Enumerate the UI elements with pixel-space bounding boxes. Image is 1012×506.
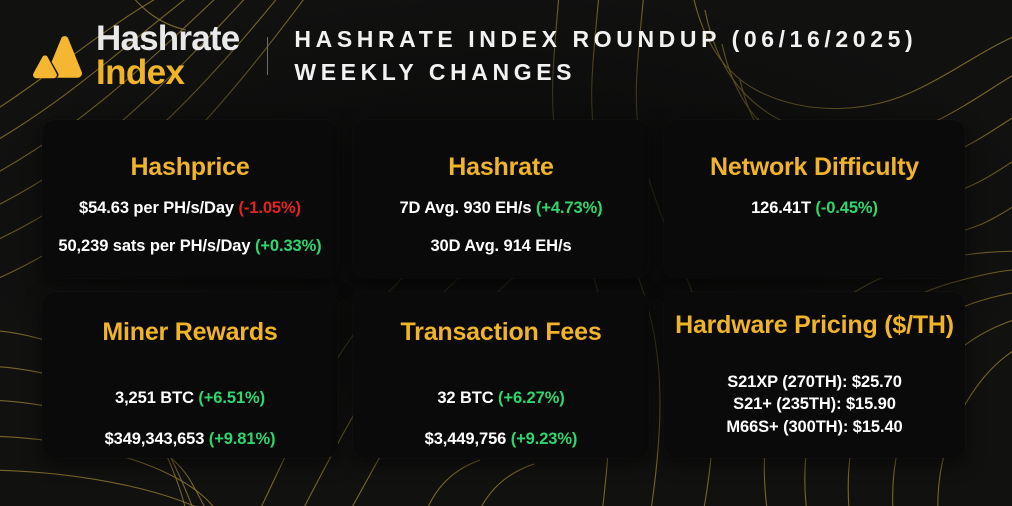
hashrate-index-logo-icon: [28, 29, 84, 85]
metric-value: $3,449,756: [425, 430, 507, 448]
hardware-price-line: S21+ (235TH): $15.90: [733, 393, 896, 416]
metric-row: 126.41T (-0.45%): [751, 199, 878, 218]
card-title: Transaction Fees: [400, 318, 601, 348]
page-title: HASHRATE INDEX ROUNDUP (06/16/2025) WEEK…: [294, 26, 917, 86]
metric-change-positive: (+4.73%): [536, 199, 603, 217]
card-metrics: 126.41T (-0.45%): [674, 199, 955, 218]
header-divider: [267, 37, 268, 75]
card-hashprice: Hashprice$54.63 per PH/s/Day (-1.05%)50,…: [42, 120, 338, 278]
hardware-price-line: M66S+ (300TH): $15.40: [726, 416, 902, 439]
wordmark: Hashrate Index: [96, 22, 239, 90]
metrics-card-grid: Hashprice$54.63 per PH/s/Day (-1.05%)50,…: [42, 120, 965, 472]
metric-change-positive: (-0.45%): [815, 199, 877, 217]
metric-value: 7D Avg. 930 EH/s: [399, 199, 531, 217]
hardware-price-line: S21XP (270TH): $25.70: [727, 371, 902, 394]
card-metrics: 7D Avg. 930 EH/s (+4.73%)30D Avg. 914 EH…: [363, 199, 639, 256]
card-title: Network Difficulty: [710, 153, 919, 183]
wordmark-line-2: Index: [96, 56, 239, 90]
metric-value: $54.63 per PH/s/Day: [79, 199, 234, 217]
card-difficulty: Network Difficulty126.41T (-0.45%): [664, 120, 965, 278]
card-title: Hashrate: [448, 153, 553, 183]
metric-change-positive: (+0.33%): [255, 237, 322, 255]
roundup-graphic: Hashrate Index HASHRATE INDEX ROUNDUP (0…: [0, 0, 1012, 506]
card-title: Miner Rewards: [102, 318, 277, 348]
metric-row: 30D Avg. 914 EH/s: [430, 237, 571, 256]
page-title-line-1: HASHRATE INDEX ROUNDUP (06/16/2025): [294, 26, 917, 53]
metric-row: 32 BTC (+6.27%): [437, 389, 564, 408]
metric-change-positive: (+6.51%): [198, 389, 265, 407]
page-title-line-2: WEEKLY CHANGES: [294, 59, 917, 86]
metric-value: $349,343,653: [105, 430, 205, 448]
card-title: Hashprice: [130, 153, 249, 183]
card-fees: Transaction Fees32 BTC (+6.27%)$3,449,75…: [353, 292, 649, 458]
header: Hashrate Index HASHRATE INDEX ROUNDUP (0…: [0, 0, 1012, 112]
metric-change-negative: (-1.05%): [238, 199, 300, 217]
card-title: Hardware Pricing ($/TH): [675, 311, 954, 341]
metric-change-positive: (+9.81%): [209, 430, 276, 448]
metric-row: $349,343,653 (+9.81%): [105, 430, 276, 449]
metric-row: 7D Avg. 930 EH/s (+4.73%): [399, 199, 602, 218]
card-metrics: $54.63 per PH/s/Day (-1.05%)50,239 sats …: [52, 199, 328, 256]
card-rewards: Miner Rewards3,251 BTC (+6.51%)$349,343,…: [42, 292, 338, 458]
metric-row: $54.63 per PH/s/Day (-1.05%): [79, 199, 301, 218]
metric-value: 3,251 BTC: [115, 389, 194, 407]
metric-change-positive: (+9.23%): [511, 430, 578, 448]
card-hashrate: Hashrate7D Avg. 930 EH/s (+4.73%)30D Avg…: [353, 120, 649, 278]
metric-change-positive: (+6.27%): [498, 389, 565, 407]
metric-row: 50,239 sats per PH/s/Day (+0.33%): [58, 237, 321, 256]
wordmark-line-1: Hashrate: [96, 22, 239, 56]
metric-row: $3,449,756 (+9.23%): [425, 430, 578, 449]
card-metrics: 3,251 BTC (+6.51%)$349,343,653 (+9.81%): [52, 389, 328, 449]
card-metrics: S21XP (270TH): $25.70S21+ (235TH): $15.9…: [674, 371, 955, 439]
metric-value: 32 BTC: [437, 389, 493, 407]
metric-value: 126.41T: [751, 199, 811, 217]
card-metrics: 32 BTC (+6.27%)$3,449,756 (+9.23%): [363, 389, 639, 449]
card-hardware: Hardware Pricing ($/TH)S21XP (270TH): $2…: [664, 292, 965, 458]
metric-value: 50,239 sats per PH/s/Day: [58, 237, 250, 255]
brand-lockup: Hashrate Index: [28, 22, 239, 90]
metric-row: 3,251 BTC (+6.51%): [115, 389, 265, 408]
metric-value: 30D Avg. 914 EH/s: [430, 237, 571, 255]
